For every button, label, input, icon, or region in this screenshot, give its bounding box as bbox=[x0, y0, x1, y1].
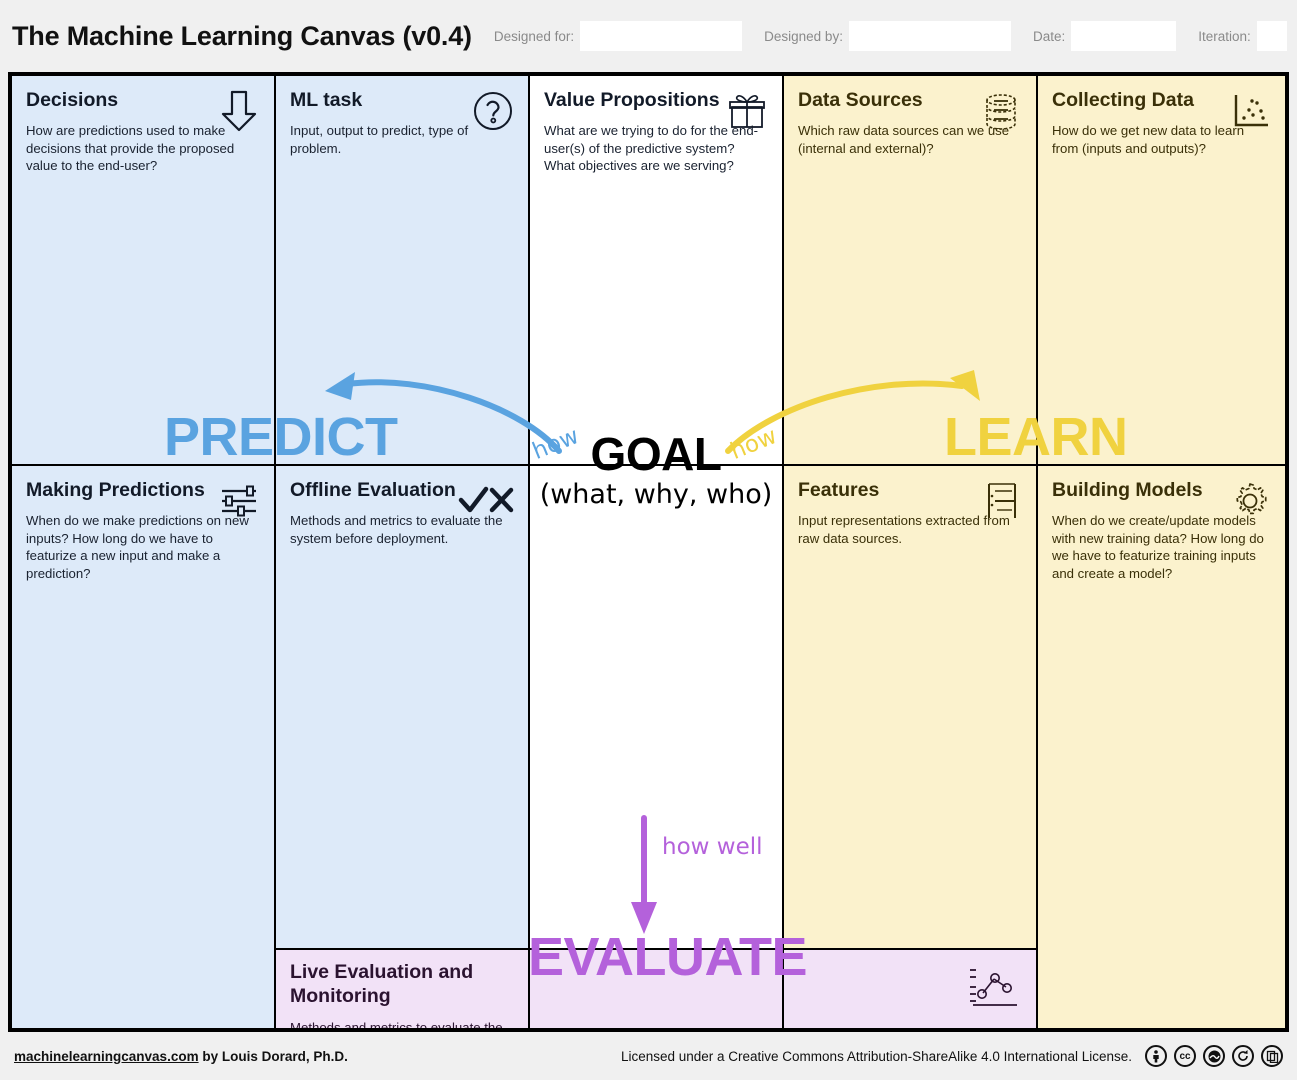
nc-icon[interactable] bbox=[1203, 1045, 1225, 1067]
footer-credit: machinelearningcanvas.com by Louis Dorar… bbox=[14, 1049, 348, 1064]
cell-desc-decisions: How are predictions used to make decisio… bbox=[26, 122, 260, 174]
cell-title-features: Features bbox=[798, 478, 1022, 502]
iteration-input[interactable] bbox=[1257, 21, 1287, 51]
cell-desc-building-models: When do we create/update models with new… bbox=[1052, 512, 1271, 582]
canvas-site-link[interactable]: machinelearningcanvas.com bbox=[14, 1049, 199, 1064]
cell-making-predictions[interactable]: Making Predictions When do we make predi… bbox=[12, 466, 274, 1028]
designed-by-input[interactable] bbox=[849, 21, 1011, 51]
sa-icon[interactable] bbox=[1232, 1045, 1254, 1067]
license-text: Licensed under a Creative Commons Attrib… bbox=[621, 1049, 1132, 1064]
page-footer: machinelearningcanvas.com by Louis Dorar… bbox=[0, 1032, 1297, 1080]
cell-features[interactable]: Features Input representations extracted… bbox=[784, 466, 1036, 948]
designed-for-group: Designed for: bbox=[494, 21, 742, 51]
cell-ml-task[interactable]: ML task Input, output to predict, type o… bbox=[276, 76, 528, 464]
grid-divider-3 bbox=[782, 76, 784, 1028]
grid-divider-2 bbox=[528, 76, 530, 1028]
designed-by-group: Designed by: bbox=[764, 21, 1011, 51]
iteration-label: Iteration: bbox=[1198, 29, 1251, 44]
by-icon[interactable] bbox=[1145, 1045, 1167, 1067]
date-input[interactable] bbox=[1071, 21, 1176, 51]
cell-value-propositions[interactable]: Value Propositions What are we trying to… bbox=[530, 76, 782, 866]
iteration-group: Iteration: bbox=[1198, 21, 1287, 51]
grid-divider-bottom bbox=[276, 948, 1036, 950]
designed-by-label: Designed by: bbox=[764, 29, 843, 44]
cell-title-making-predictions: Making Predictions bbox=[26, 478, 260, 502]
cell-desc-ml-task: Input, output to predict, type of proble… bbox=[290, 122, 514, 157]
cell-decisions[interactable]: Decisions How are predictions used to ma… bbox=[12, 76, 274, 464]
cell-title-offline-evaluation: Offline Evaluation bbox=[290, 478, 514, 502]
ml-canvas: Decisions How are predictions used to ma… bbox=[8, 72, 1289, 1032]
grid-divider-1 bbox=[274, 76, 276, 1028]
page-header: The Machine Learning Canvas (v0.4) Desig… bbox=[0, 0, 1297, 72]
line-chart-icon bbox=[961, 962, 1023, 1014]
cell-title-decisions: Decisions bbox=[26, 88, 260, 112]
cell-desc-data-sources: Which raw data sources can we use (inter… bbox=[798, 122, 1022, 157]
cell-title-value-propositions: Value Propositions bbox=[544, 88, 768, 112]
footer-author: by Louis Dorard, Ph.D. bbox=[199, 1049, 348, 1064]
cell-title-ml-task: ML task bbox=[290, 88, 514, 112]
cell-title-collecting-data: Collecting Data bbox=[1052, 88, 1271, 112]
cell-offline-evaluation[interactable]: Offline Evaluation Methods and metrics t… bbox=[276, 466, 528, 948]
cell-title-live-evaluation: Live Evaluation and Monitoring bbox=[290, 960, 525, 1009]
grid-divider-mid bbox=[12, 464, 1285, 466]
cell-data-sources[interactable]: Data Sources Which raw data sources can … bbox=[784, 76, 1036, 464]
cell-title-data-sources: Data Sources bbox=[798, 88, 1022, 112]
cell-live-evaluation[interactable]: Live Evaluation and Monitoring Methods a… bbox=[276, 950, 1036, 1028]
license-block: Licensed under a Creative Commons Attrib… bbox=[621, 1045, 1283, 1067]
cell-desc-making-predictions: When do we make predictions on new input… bbox=[26, 512, 260, 582]
cell-title-building-models: Building Models bbox=[1052, 478, 1271, 502]
date-group: Date: bbox=[1033, 21, 1176, 51]
cell-desc-value-propositions: What are we trying to do for the end-use… bbox=[544, 122, 768, 174]
cell-desc-live-evaluation: Methods and metrics to evaluate the syst… bbox=[290, 1019, 525, 1028]
cell-building-models[interactable]: Building Models When do we create/update… bbox=[1038, 466, 1285, 1028]
cell-desc-collecting-data: How do we get new data to learn from (in… bbox=[1052, 122, 1271, 157]
cell-collecting-data[interactable]: Collecting Data How do we get new data t… bbox=[1038, 76, 1285, 464]
cc-icon[interactable]: cc bbox=[1174, 1045, 1196, 1067]
page-title: The Machine Learning Canvas (v0.4) bbox=[12, 21, 472, 52]
designed-for-input[interactable] bbox=[580, 21, 742, 51]
grid-divider-4 bbox=[1036, 76, 1038, 1028]
canvas-grid: Decisions How are predictions used to ma… bbox=[12, 76, 1285, 1028]
cell-desc-offline-evaluation: Methods and metrics to evaluate the syst… bbox=[290, 512, 514, 547]
designed-for-label: Designed for: bbox=[494, 29, 574, 44]
copy-icon[interactable] bbox=[1261, 1045, 1283, 1067]
date-label: Date: bbox=[1033, 29, 1065, 44]
cell-desc-features: Input representations extracted from raw… bbox=[798, 512, 1022, 547]
